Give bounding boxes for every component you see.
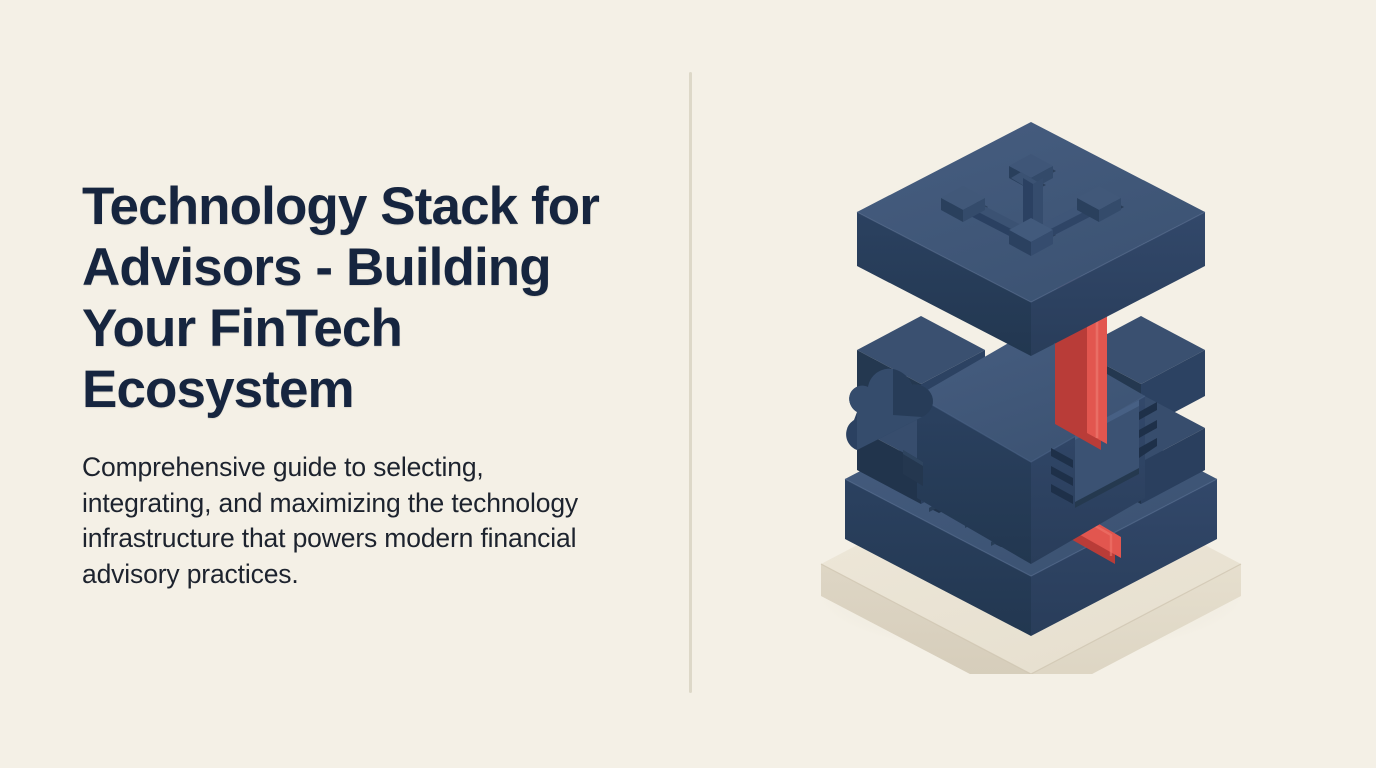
technology-stack-graphic bbox=[753, 94, 1313, 674]
slide-root: Technology Stack for Advisors - Building… bbox=[0, 0, 1376, 768]
illustration-column bbox=[690, 0, 1376, 768]
page-title: Technology Stack for Advisors - Building… bbox=[82, 176, 634, 420]
text-column: Technology Stack for Advisors - Building… bbox=[0, 0, 690, 768]
isometric-technology-stack-illustration bbox=[753, 94, 1313, 674]
network-node-plate bbox=[857, 122, 1205, 356]
page-subtitle: Comprehensive guide to selecting, integr… bbox=[82, 450, 602, 592]
